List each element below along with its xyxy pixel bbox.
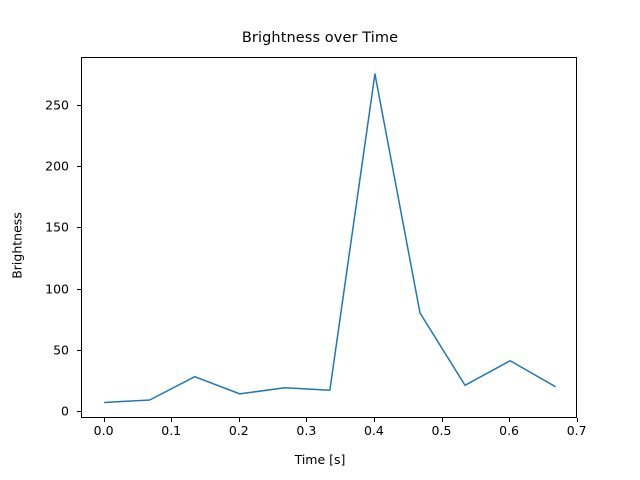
x-tick-label: 0.0 xyxy=(74,423,134,438)
x-tick-label: 0.7 xyxy=(547,423,607,438)
x-tick-label: 0.2 xyxy=(209,423,269,438)
chart-figure: Brightness over Time 050100150200250 0.0… xyxy=(0,0,640,480)
data-series-line xyxy=(105,74,556,403)
y-tick-label: 250 xyxy=(9,97,69,112)
x-axis-label: Time [s] xyxy=(0,452,640,467)
plot-area xyxy=(81,57,577,418)
y-tick-label: 0 xyxy=(9,404,69,419)
x-tick-label: 0.1 xyxy=(141,423,201,438)
y-tick-label: 50 xyxy=(9,342,69,357)
data-line-svg xyxy=(82,58,578,419)
x-tick-label: 0.3 xyxy=(276,423,336,438)
x-tick-label: 0.4 xyxy=(344,423,404,438)
chart-title: Brightness over Time xyxy=(0,30,640,46)
x-tick-label: 0.6 xyxy=(479,423,539,438)
x-tick-label: 0.5 xyxy=(412,423,472,438)
y-axis-label: Brightness xyxy=(10,166,25,326)
